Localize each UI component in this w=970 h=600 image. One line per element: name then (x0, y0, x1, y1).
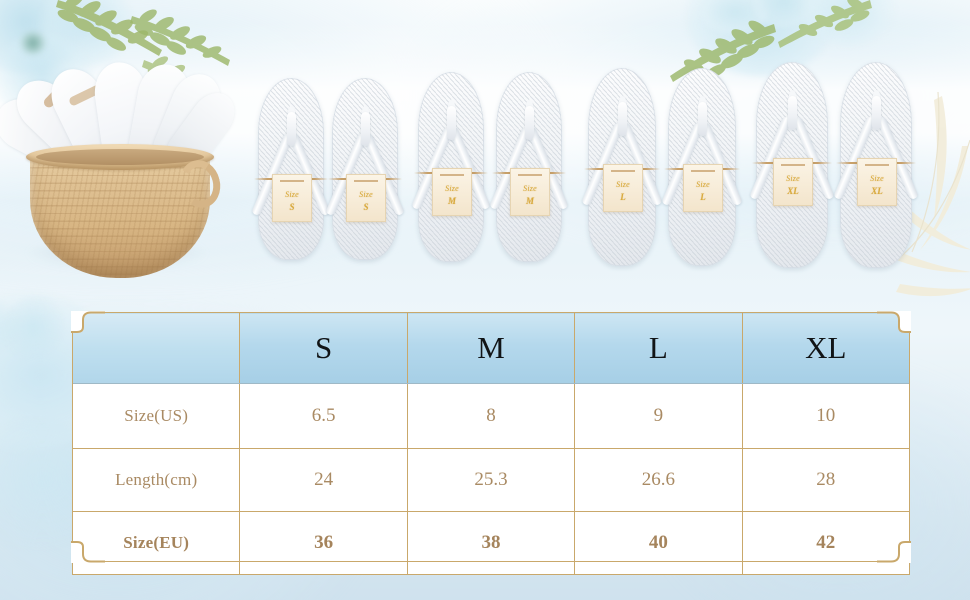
size-tag-letter: M (448, 196, 456, 206)
sandal-s-left: Size S (258, 78, 324, 260)
size-tag-letter: S (363, 202, 368, 212)
cell-length-cm-xl: 28 (742, 449, 909, 512)
sandal-thong (698, 102, 707, 136)
sandal-thong (525, 106, 534, 140)
sandal-l-left: Size L (588, 68, 656, 266)
cell-size-us-m: 8 (407, 384, 574, 449)
sandal-thong (618, 102, 627, 136)
size-tag-label: Size (696, 180, 710, 189)
row-label-length-cm: Length(cm) (73, 449, 240, 512)
size-tag-s-right: Size S (346, 174, 386, 222)
cell-size-eu-l: 40 (575, 512, 742, 575)
table-header-row: S M L XL (73, 313, 910, 384)
cell-length-cm-s: 24 (240, 449, 407, 512)
watercolor-leaf-top-right-2 (770, 0, 874, 56)
size-tag-xl-left: Size XL (773, 158, 813, 206)
cell-size-us-xl: 10 (742, 384, 909, 449)
sandal-thong (872, 96, 881, 130)
size-tag-letter: XL (871, 186, 883, 196)
size-tag-label: Size (445, 184, 459, 193)
cell-size-eu-s: 36 (240, 512, 407, 575)
sandal-xl-left: Size XL (756, 62, 828, 268)
sandal-m-right: Size M (496, 72, 562, 262)
sandal-thong (788, 96, 797, 130)
cell-size-us-s: 6.5 (240, 384, 407, 449)
sandal-thong (361, 112, 370, 146)
table-header-xl: XL (742, 313, 909, 384)
size-tag-letter: L (620, 192, 626, 202)
size-chart-table: S M L XL Size(US) 6.5 8 9 10 Length(cm) … (72, 312, 910, 562)
size-tag-s-left: Size S (272, 174, 312, 222)
sandal-xl-right: Size XL (840, 62, 912, 268)
size-tag-l-left: Size L (603, 164, 643, 212)
sandal-thong (287, 112, 296, 146)
sandal-thong (447, 106, 456, 140)
table-corner-cell (73, 313, 240, 384)
size-tag-m-left: Size M (432, 168, 472, 216)
basket-with-sandals (6, 48, 226, 280)
size-tag-label: Size (870, 174, 884, 183)
size-tag-label: Size (786, 174, 800, 183)
size-tag-letter: S (289, 202, 294, 212)
row-label-size-eu: Size(EU) (73, 512, 240, 575)
cell-size-us-l: 9 (575, 384, 742, 449)
size-tag-label: Size (285, 190, 299, 199)
table-row-length-cm: Length(cm) 24 25.3 26.6 28 (73, 449, 910, 512)
table-header-s: S (240, 313, 407, 384)
size-tag-l-right: Size L (683, 164, 723, 212)
table-header-m: M (407, 313, 574, 384)
table-row-size-us: Size(US) 6.5 8 9 10 (73, 384, 910, 449)
size-tag-label: Size (523, 184, 537, 193)
basket-rim-inner (36, 149, 204, 165)
size-tag-letter: L (700, 192, 706, 202)
size-tag-xl-right: Size XL (857, 158, 897, 206)
size-chart-graphic: Size S Size S Size (0, 0, 970, 600)
size-tag-m-right: Size M (510, 168, 550, 216)
size-tag-label: Size (616, 180, 630, 189)
table-row-size-eu: Size(EU) 36 38 40 42 (73, 512, 910, 575)
table-header-l: L (575, 313, 742, 384)
sandal-l-right: Size L (668, 68, 736, 266)
cell-length-cm-m: 25.3 (407, 449, 574, 512)
sandal-s-right: Size S (332, 78, 398, 260)
row-label-size-us: Size(US) (73, 384, 240, 449)
cell-size-eu-m: 38 (407, 512, 574, 575)
size-table: S M L XL Size(US) 6.5 8 9 10 Length(cm) … (72, 312, 910, 575)
sandal-m-left: Size M (418, 72, 484, 262)
size-tag-letter: M (526, 196, 534, 206)
size-tag-label: Size (359, 190, 373, 199)
cell-size-eu-xl: 42 (742, 512, 909, 575)
size-tag-letter: XL (787, 186, 799, 196)
cell-length-cm-l: 26.6 (575, 449, 742, 512)
